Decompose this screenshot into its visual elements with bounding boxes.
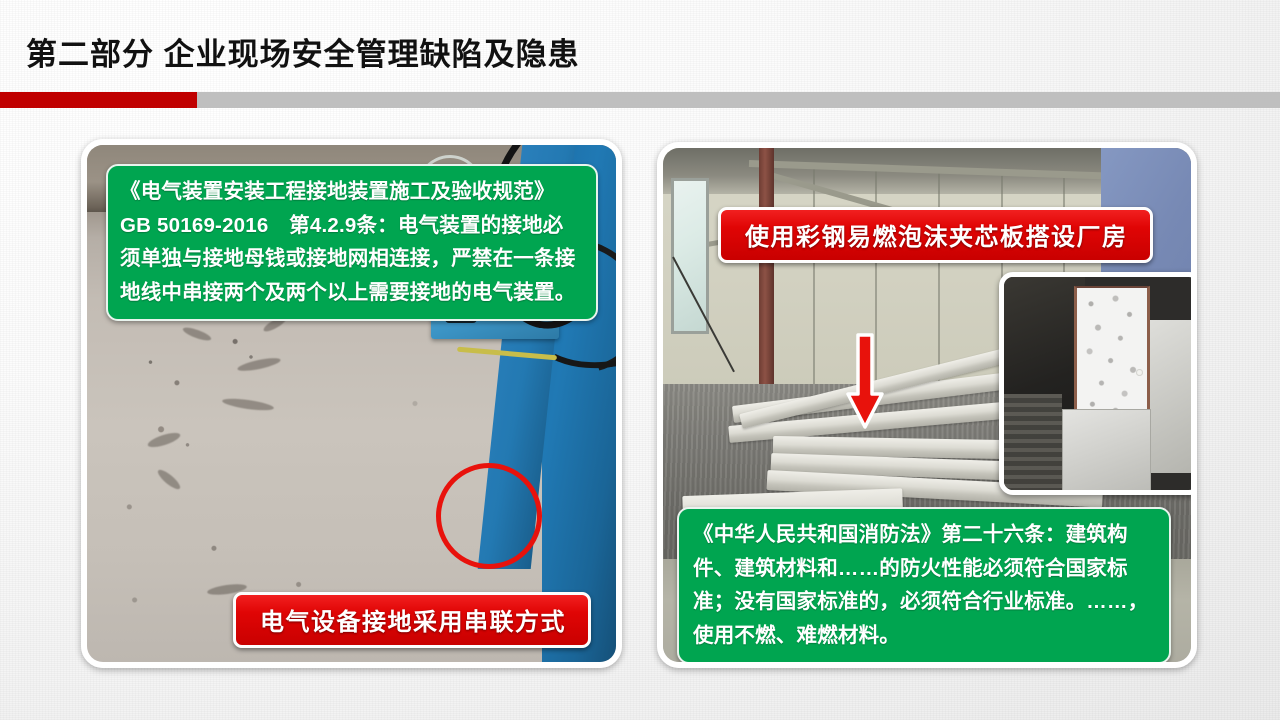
- right-photo-card: 使用彩钢易燃泡沫夹芯板搭设厂房 《中华人民共和国消防法》第二十六条：建筑构件、建…: [657, 142, 1197, 668]
- page-title: 第二部分 企业现场安全管理缺陷及隐患: [26, 29, 580, 74]
- factory-window: [671, 178, 709, 334]
- inset-foam-core: [1074, 286, 1150, 420]
- inset-closeup-photo: [999, 272, 1191, 495]
- annotation-circle-grounding: [436, 463, 542, 569]
- wall-panel-seam: [813, 166, 815, 406]
- left-regulation-box: 《电气装置安装工程接地装置施工及验收规范》GB 50169-2016 第4.2.…: [106, 164, 598, 321]
- inset-background-stripes: [1004, 394, 1062, 490]
- right-regulation-text: 《中华人民共和国消防法》第二十六条：建筑构件、建筑材料和……的防火性能必须符合国…: [693, 518, 1157, 652]
- left-photo-caption: 电气设备接地采用串联方式: [233, 592, 591, 648]
- divider-accent-segment: [0, 92, 197, 108]
- left-photo-card: 《电气装置安装工程接地装置施工及验收规范》GB 50169-2016 第4.2.…: [81, 139, 622, 668]
- divider-track-segment: [197, 92, 1280, 108]
- title-divider-bar: [0, 92, 1280, 108]
- inset-screw: [1136, 369, 1143, 376]
- left-regulation-text: 《电气装置安装工程接地装置施工及验收规范》GB 50169-2016 第4.2.…: [120, 175, 584, 309]
- annotation-down-arrow: [845, 332, 885, 432]
- inset-metal-sheet: [1062, 409, 1151, 492]
- right-regulation-box: 《中华人民共和国消防法》第二十六条：建筑构件、建筑材料和……的防火性能必须符合国…: [677, 507, 1171, 664]
- presentation-slide: 第二部分 企业现场安全管理缺陷及隐患: [0, 0, 1280, 720]
- right-photo-caption: 使用彩钢易燃泡沫夹芯板搭设厂房: [718, 207, 1153, 263]
